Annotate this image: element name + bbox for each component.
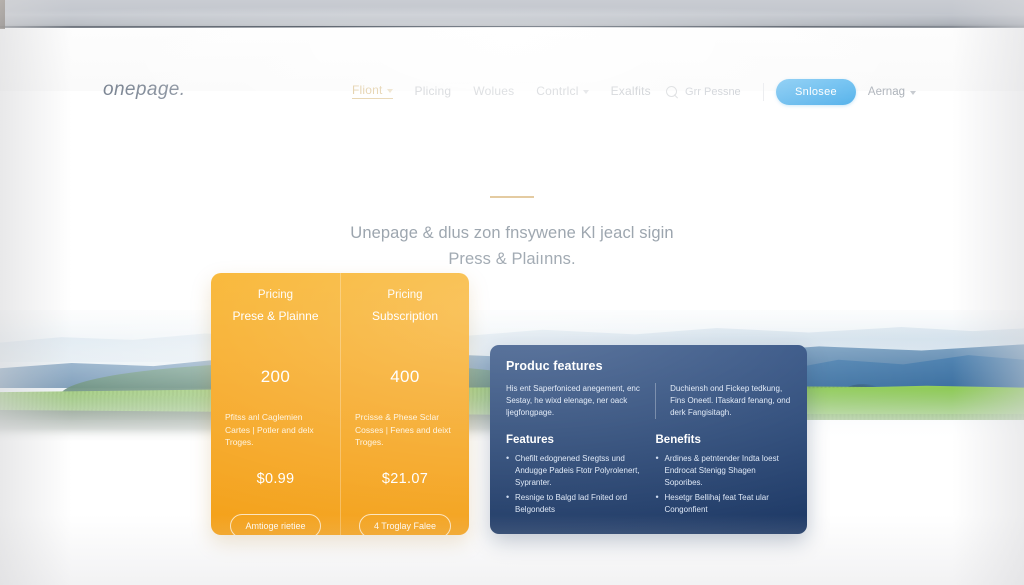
features-section: Features Chefilt edognened Sregtss und A… xyxy=(506,434,642,519)
language-label: Aernag xyxy=(868,86,905,98)
bezel-hairline xyxy=(0,26,1024,28)
cta-button[interactable]: Snlosee xyxy=(776,79,856,105)
list-item: Hesetgr Bellihaj feat Teat ular Congonfi… xyxy=(656,492,792,516)
features-intro-columns: His ent Saperfoniced anegement, enc Sest… xyxy=(506,383,791,419)
main-nav: Fliont Plicing Wolues Contrlcl Exalfits xyxy=(352,83,651,99)
nav-item-fliont[interactable]: Fliont xyxy=(352,83,393,99)
benefits-bullet-list: Ardines & petntender Indta loest Endroca… xyxy=(656,453,792,516)
pricing-price: $0.99 xyxy=(257,471,295,487)
nav-item-label: Fliont xyxy=(352,83,383,97)
pricing-button-subscription[interactable]: 4 Troglay Falee xyxy=(359,514,451,536)
pricing-title: Subscription xyxy=(372,309,438,324)
features-intro-right: Duchiensh ond Fickep tedkung, Fins Oneet… xyxy=(655,383,791,419)
search-input[interactable] xyxy=(685,86,751,98)
header-actions: Snlosee Aernag xyxy=(666,79,916,105)
bezel-glow xyxy=(0,0,1024,27)
site-logo[interactable]: onepage. xyxy=(103,79,185,101)
nav-item-wolues[interactable]: Wolues xyxy=(473,84,514,98)
nav-item-label: Plicing xyxy=(415,84,452,98)
features-intro-left: His ent Saperfoniced anegement, enc Sest… xyxy=(506,383,641,419)
pricing-card: Pricing Prese & Plainne 200 Pfitss anl C… xyxy=(211,273,469,535)
features-list-columns: Features Chefilt edognened Sregtss und A… xyxy=(506,434,791,519)
features-section-title: Features xyxy=(506,434,642,446)
pricing-body: Pfitss anl Caglemien Cartes | Potler and… xyxy=(225,411,326,449)
search-icon xyxy=(666,86,678,98)
features-bullet-list: Chefilt edognened Sregtss und Andugge Pa… xyxy=(506,453,642,516)
capture-top-bezel xyxy=(0,0,1024,27)
list-item: Resnige to Balgd lad Fnited ord Belgonde… xyxy=(506,492,642,516)
nav-item-label: Wolues xyxy=(473,84,514,98)
nav-item-contrlcl[interactable]: Contrlcl xyxy=(536,84,588,98)
chevron-down-icon xyxy=(583,90,589,94)
benefits-section-title: Benefits xyxy=(656,434,792,446)
hero-section: Unepage & dlus zon fnsywene Kl jeacl sig… xyxy=(0,196,1024,272)
screenshot-root: onepage. Fliont Plicing Wolues Contrlcl … xyxy=(0,0,1024,585)
pricing-amount: 400 xyxy=(390,367,420,387)
hero-headline-line-2: Press & Plaiınns. xyxy=(0,246,1024,272)
search-box[interactable] xyxy=(666,86,751,98)
hero-headline-line-1: Unepage & dlus zon fnsywene Kl jeacl sig… xyxy=(0,220,1024,246)
pricing-body: Prcisse & Phese Sclar Cosses | Fenes and… xyxy=(355,411,455,449)
pricing-column-plans: Pricing Prese & Plainne 200 Pfitss anl C… xyxy=(211,273,340,535)
nav-item-exalfits[interactable]: Exalfits xyxy=(611,84,651,98)
features-panel-title: Produc features xyxy=(506,359,791,373)
pricing-button-plans[interactable]: Amtioge rietiee xyxy=(230,514,320,536)
pricing-price: $21.07 xyxy=(382,471,428,487)
nav-item-label: Contrlcl xyxy=(536,84,578,98)
chevron-down-icon xyxy=(910,91,916,95)
hero-accent-rule xyxy=(490,196,534,198)
pricing-kicker: Pricing xyxy=(387,289,422,301)
site-header: onepage. Fliont Plicing Wolues Contrlcl … xyxy=(0,29,1024,91)
language-selector[interactable]: Aernag xyxy=(868,86,916,98)
list-item: Chefilt edognened Sregtss und Andugge Pa… xyxy=(506,453,642,489)
pricing-column-subscription: Pricing Subscription 400 Prcisse & Phese… xyxy=(340,273,469,535)
list-item: Ardines & petntender Indta loest Endroca… xyxy=(656,453,792,489)
nav-item-label: Exalfits xyxy=(611,84,651,98)
product-features-panel: Produc features His ent Saperfoniced ane… xyxy=(490,345,807,534)
pricing-title: Prese & Plainne xyxy=(232,309,318,324)
pricing-amount: 200 xyxy=(261,367,291,387)
header-divider xyxy=(763,83,764,101)
benefits-section: Benefits Ardines & petntender Indta loes… xyxy=(656,434,792,519)
nav-item-plicing[interactable]: Plicing xyxy=(415,84,452,98)
pricing-kicker: Pricing xyxy=(258,289,293,301)
chevron-down-icon xyxy=(387,89,393,93)
